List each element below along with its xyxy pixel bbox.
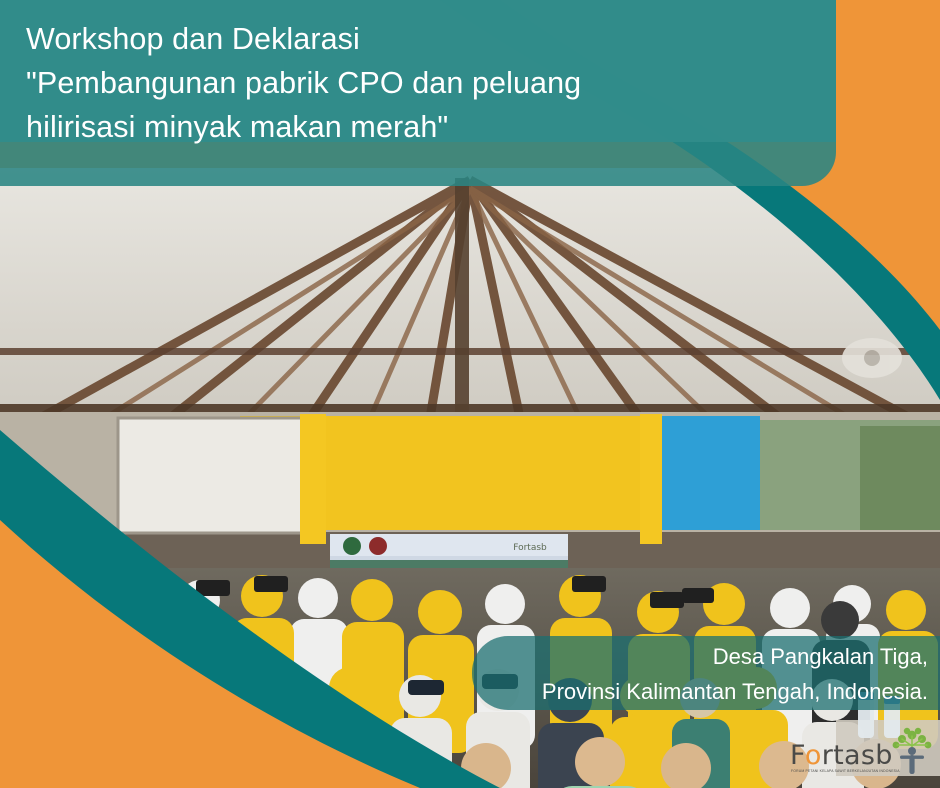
fortasb-wordmark: Fortasb — [790, 740, 893, 771]
fortasb-wordmark-accent: o — [805, 740, 822, 771]
poster-canvas: WORKSHOP DAN DEKLARASI "Rencana Pembangu… — [0, 0, 940, 788]
tree-person-icon — [890, 726, 934, 778]
page-title: Workshop dan Deklarasi "Pembangunan pabr… — [26, 17, 816, 149]
fortasb-wordmark-post: rtasb — [822, 740, 893, 771]
fortasb-wordmark-pre: F — [790, 740, 805, 771]
location-caption: Desa Pangkalan Tiga, Provinsi Kalimantan… — [458, 639, 928, 709]
fortasb-logo: Fortasb FORUM PETANI KELAPA SAWIT BERKEL… — [790, 726, 932, 782]
fortasb-tagline: FORUM PETANI KELAPA SAWIT BERKELANJUTAN … — [791, 769, 900, 773]
svg-text:Fortasb: Fortasb — [513, 543, 547, 553]
